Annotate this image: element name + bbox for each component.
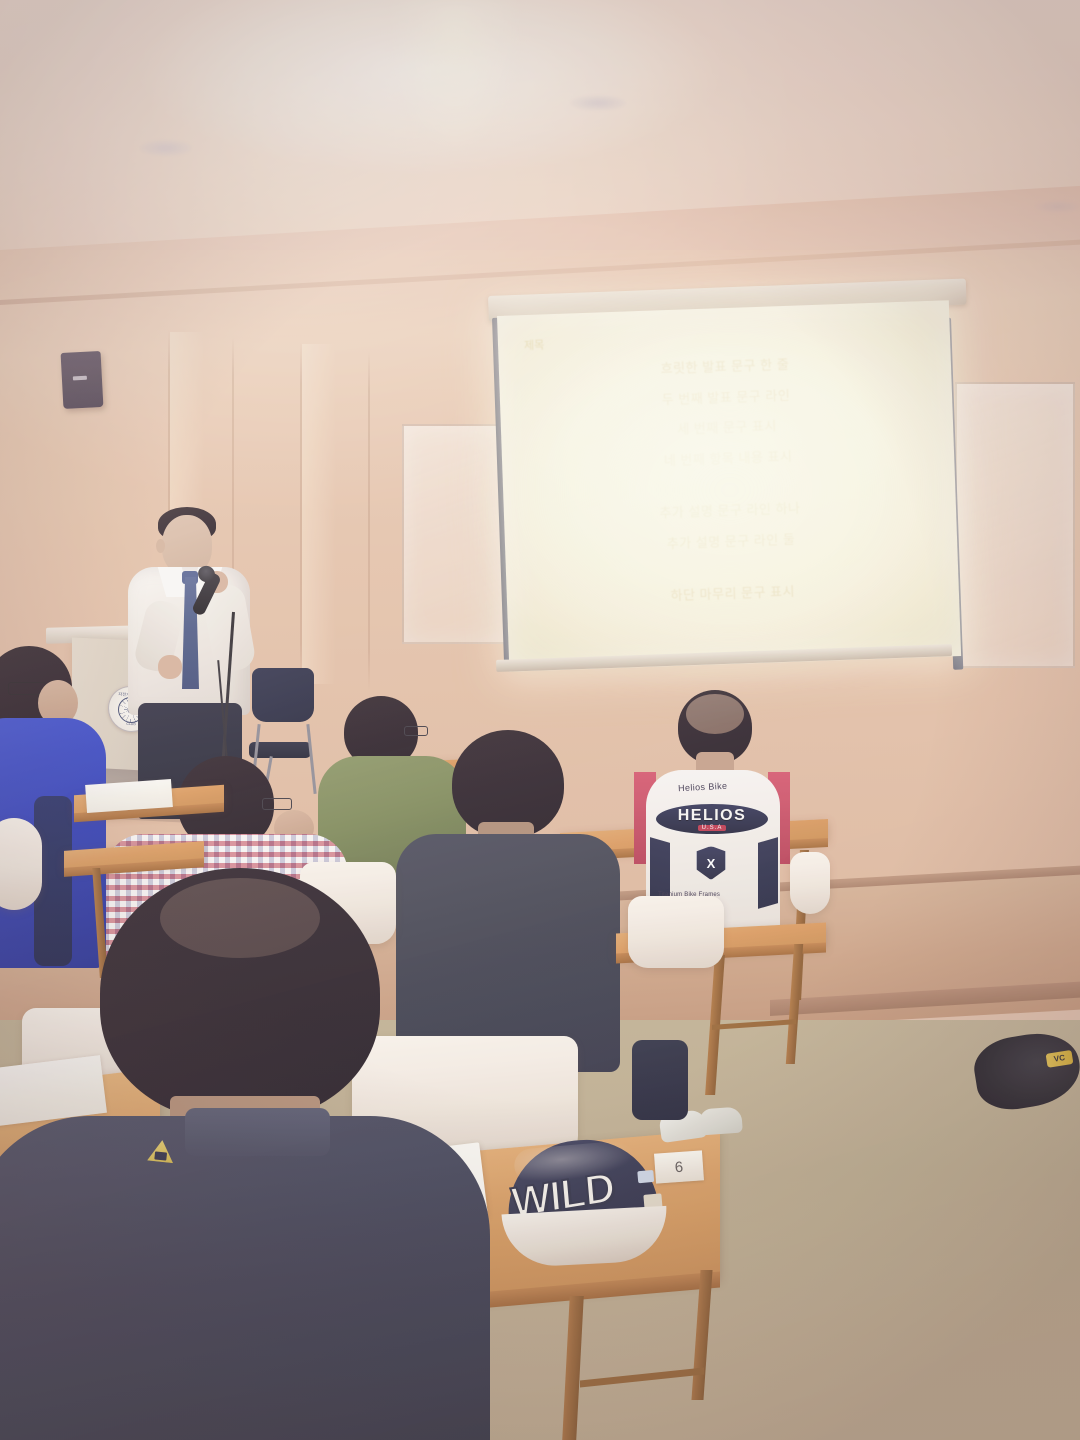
backpack-logo: VC [1046,1050,1074,1068]
shoe [699,1107,743,1136]
cap-brim [501,1206,669,1269]
ceiling-light-icon [140,140,192,156]
slide-body: 흐릿한 발표 문구 한 줄 두 번째 발표 문구 라인 세 번째 문구 표시 네… [497,300,961,672]
chair-back [252,668,314,722]
navy-jacket [0,1116,490,1440]
chair-white [790,852,830,914]
classroom-photo-scene: 제목 흐릿한 발표 문구 한 줄 두 번째 발표 문구 라인 세 번째 문구 표… [0,0,1080,1440]
open-binder [85,779,173,813]
brand-subtext: U.S.A [698,825,727,831]
ceiling-glare [390,0,520,150]
wall-speaker-icon [61,351,104,409]
jersey-panel-navy [758,837,778,909]
whiteboard-panel-left [402,424,506,644]
brand-name: HELIOS [678,808,747,824]
presenter-left-hand [158,655,182,679]
table-number-card: 6 [654,1150,704,1183]
attendee-navy-foreground [0,868,490,1440]
scalp-highlight [160,878,320,958]
wild-baseball-cap: WILD [495,1133,676,1277]
wall-highlight [302,344,336,684]
wall-panel-seam [368,350,370,690]
glasses-icon [262,798,292,810]
seated-legs [632,1040,688,1120]
chair-white [628,896,724,968]
helios-brand-logo: HELIOS U.S.A [654,802,770,836]
whiteboard-panel-right [955,382,1075,668]
projection-screen: 제목 흐릿한 발표 문구 한 줄 두 번째 발표 문구 라인 세 번째 문구 표… [497,300,961,672]
ceiling-light-icon [570,95,626,111]
presenter-ear [156,539,165,553]
scalp [686,694,744,734]
jacket-collar [185,1108,330,1156]
